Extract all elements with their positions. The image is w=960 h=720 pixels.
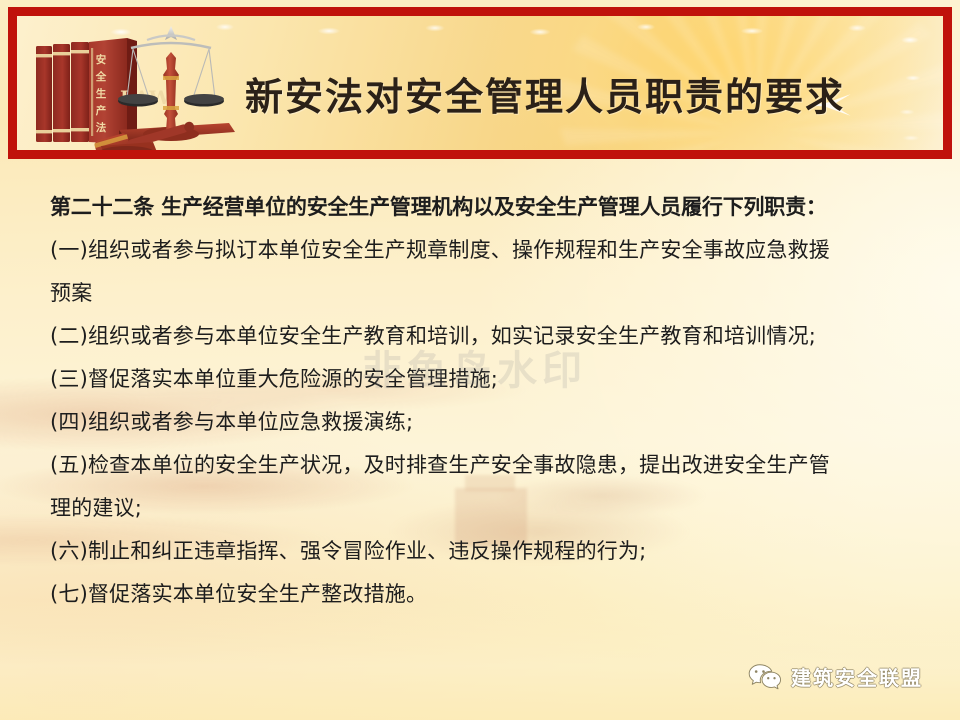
law-item-5-line-1: (五)检查本单位的安全生产状况，及时排查生产安全事故隐患，提出改进安全生产管 [50, 444, 936, 487]
law-item-3: (三)督促落实本单位重大危险源的安全管理措施; [50, 358, 936, 401]
law-article-body: 第二十二条 生产经营单位的安全生产管理机构以及安全生产管理人员履行下列职责： (… [50, 186, 936, 616]
law-item-6: (六)制止和纠正违章指挥、强令冒险作业、违反操作规程的行为; [50, 530, 936, 573]
svg-text:生: 生 [96, 87, 107, 100]
slide-root: 安 全 生 产 法 LAW [0, 0, 960, 720]
wechat-icon [748, 663, 782, 691]
header-banner: 安 全 生 产 法 LAW [8, 7, 952, 159]
svg-text:全: 全 [95, 70, 107, 83]
background-bottom-fade [0, 600, 960, 720]
footer-brand: 建筑安全联盟 [748, 662, 923, 691]
law-item-2: (二)组织或者参与本单位安全生产教育和培训，如实记录安全生产教育和培训情况; [50, 315, 936, 358]
page-title: 新安法对安全管理人员职责的要求 [245, 66, 905, 121]
svg-text:产: 产 [96, 104, 107, 117]
brand-name-label: 建筑安全联盟 [791, 662, 923, 691]
law-item-1-line-1: (一)组织或者参与拟订本单位安全生产规章制度、操作规程和生产安全事故应急救援 [50, 229, 936, 272]
svg-text:安: 安 [96, 53, 107, 66]
law-item-7: (七)督促落实本单位安全生产整改措施。 [50, 573, 936, 616]
law-article-heading: 第二十二条 生产经营单位的安全生产管理机构以及安全生产管理人员履行下列职责： [50, 186, 936, 229]
svg-text:法: 法 [96, 121, 107, 134]
law-item-1-line-2: 预案 [50, 272, 936, 315]
law-item-5-line-2: 理的建议; [50, 487, 936, 530]
law-item-4: (四)组织或者参与本单位应急救援演练; [50, 401, 936, 444]
